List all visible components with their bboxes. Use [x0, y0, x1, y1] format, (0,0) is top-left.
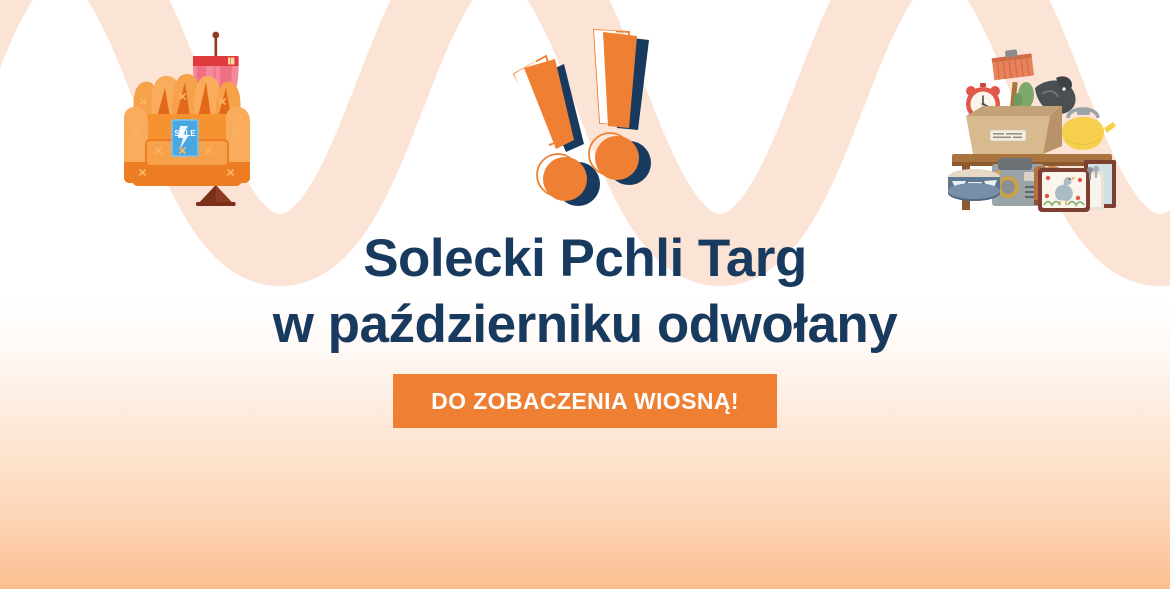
toy-drum-icon — [948, 169, 1000, 201]
promo-banner: SALE — [0, 0, 1170, 589]
exclamation-mark-left-icon — [514, 56, 600, 206]
armchair-illustration: SALE — [110, 22, 280, 212]
yellow-kettle-icon — [1062, 109, 1116, 150]
see-you-in-spring-button[interactable]: DO ZOBACZENIA WIOSNĄ! — [393, 374, 777, 428]
armchair-icon: SALE — [124, 74, 250, 186]
cardboard-box-icon — [966, 106, 1062, 154]
banner-content: Solecki Pchli Targ w październiku odwoła… — [0, 226, 1170, 428]
page-title-line-1: Solecki Pchli Targ — [0, 226, 1170, 292]
exclamation-marks-illustration — [498, 18, 688, 223]
page-title-line-2: w październiku odwołany — [0, 292, 1170, 358]
svg-text:SALE: SALE — [174, 129, 196, 138]
goose-picture-frame-icon — [1038, 168, 1090, 212]
flea-market-stall-illustration — [938, 48, 1128, 213]
cta-container: DO ZOBACZENIA WIOSNĄ! — [0, 374, 1170, 428]
exclamation-mark-right-icon — [589, 30, 651, 185]
